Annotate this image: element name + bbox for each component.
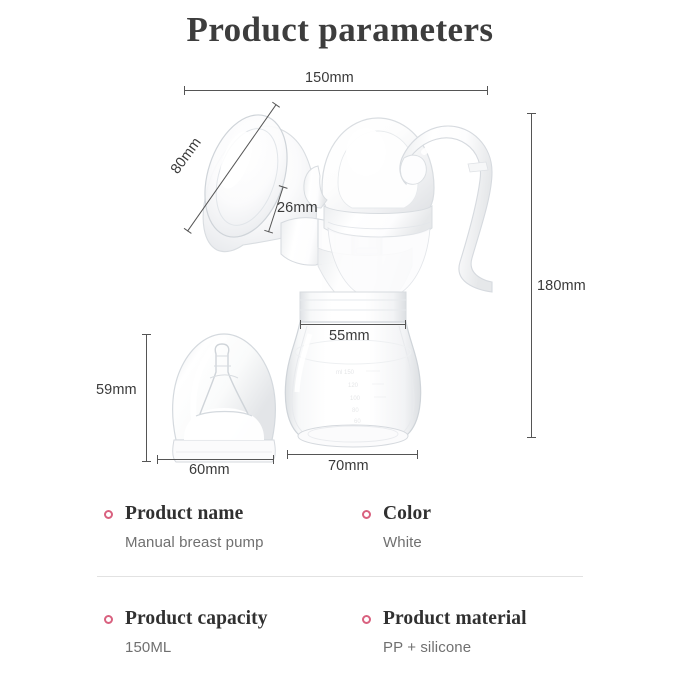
dimension-line-bottle-base [287, 454, 418, 455]
dimension-line-bottle-neck [300, 324, 406, 325]
svg-text:100: 100 [350, 396, 361, 402]
product-parameters-page: Product parameters [0, 0, 680, 680]
spec-label: Product name [125, 503, 243, 525]
dimension-label-cap-height: 59mm [96, 382, 137, 398]
svg-text:80: 80 [352, 408, 359, 414]
nipple-cap [173, 334, 276, 462]
dimension-label-bottle-base: 70mm [328, 458, 369, 474]
spec-value: PP + silicone [383, 639, 527, 656]
bullet-icon [362, 510, 371, 519]
dimension-label-neck-diameter: 26mm [277, 200, 318, 216]
dimension-label-bottle-neck: 55mm [329, 328, 370, 344]
spec-item-color: Color White [362, 503, 431, 551]
svg-text:ml 150: ml 150 [336, 370, 355, 376]
spec-item-product-capacity: Product capacity 150ML [104, 608, 268, 656]
spec-value: White [383, 534, 431, 551]
bullet-icon [104, 510, 113, 519]
spec-value: Manual breast pump [125, 534, 264, 551]
dimension-line-overall-width [184, 90, 488, 91]
bullet-icon [104, 615, 113, 624]
svg-text:120: 120 [348, 383, 359, 389]
dimension-line-cap-width [157, 459, 274, 460]
svg-text:60: 60 [354, 419, 361, 425]
dimension-label-cap-width: 60mm [189, 462, 230, 478]
dimension-label-overall-height: 180mm [537, 278, 586, 294]
spec-label: Product material [383, 608, 527, 630]
dimension-label-overall-width: 150mm [305, 70, 354, 86]
bullet-icon [362, 615, 371, 624]
spec-label: Product capacity [125, 608, 268, 630]
dimension-line-overall-height [531, 113, 532, 438]
spec-divider [97, 576, 583, 577]
dimension-line-cap-height [146, 334, 147, 462]
spec-value: 150ML [125, 639, 268, 656]
spec-label: Color [383, 503, 431, 525]
spec-item-product-name: Product name Manual breast pump [104, 503, 264, 551]
spec-item-product-material: Product material PP + silicone [362, 608, 527, 656]
